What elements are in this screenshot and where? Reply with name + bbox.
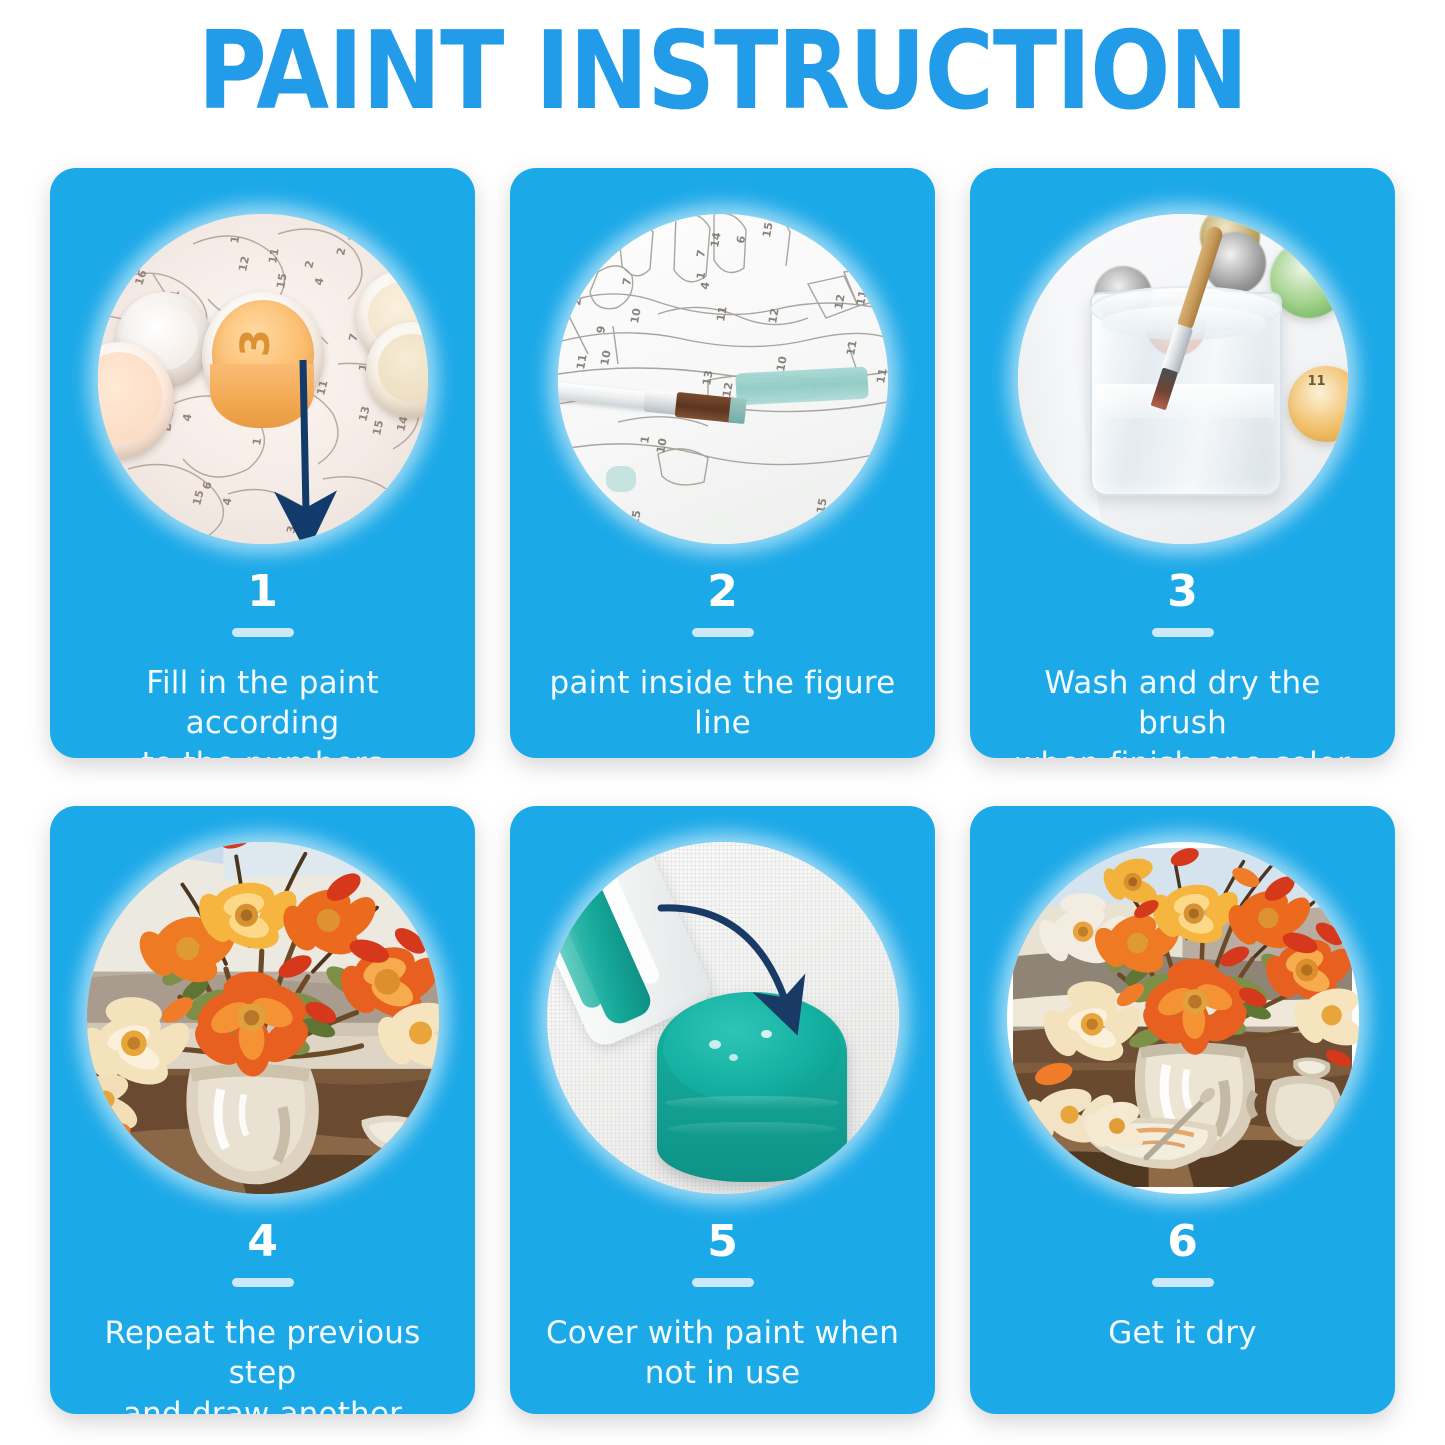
brush-rinsing-in-water-glass-photo: 11 bbox=[1018, 214, 1348, 544]
svg-text:1: 1 bbox=[250, 437, 264, 447]
brush-painting-inside-line-photo: 7 14 1 4 6 15 2 7 9 10 10 bbox=[558, 214, 888, 544]
svg-text:11: 11 bbox=[844, 339, 859, 356]
caption-line-1: Fill in the paint according bbox=[146, 665, 379, 741]
svg-text:13: 13 bbox=[700, 369, 715, 386]
page-title: PAINT INSTRUCTION bbox=[22, 12, 1424, 133]
step-card-4[interactable]: 4 Repeat the previous step and draw anot… bbox=[50, 806, 475, 1414]
step-rule bbox=[692, 1278, 754, 1287]
brush-ferrule bbox=[1161, 323, 1193, 374]
down-arrow-icon bbox=[268, 354, 348, 544]
svg-text:13: 13 bbox=[356, 405, 372, 423]
caption-line-1: Get it dry bbox=[1108, 1315, 1257, 1351]
svg-text:11: 11 bbox=[854, 289, 869, 306]
svg-text:10: 10 bbox=[654, 437, 670, 455]
svg-text:1: 1 bbox=[638, 435, 652, 445]
step-caption: Get it dry bbox=[1003, 1313, 1363, 1353]
svg-text:4: 4 bbox=[180, 412, 194, 423]
svg-text:10: 10 bbox=[628, 307, 644, 325]
step-image-2: 7 14 1 4 6 15 2 7 9 10 10 bbox=[558, 214, 888, 544]
step-card-5[interactable]: 5 Cover with paint when not in use bbox=[510, 806, 935, 1414]
step-card-1[interactable]: 16 11 1 12 11 2 2 4 15 7 1 bbox=[50, 168, 475, 758]
step-rule bbox=[232, 628, 294, 637]
step-number: 2 bbox=[510, 570, 935, 614]
step-card-3[interactable]: 11 3 bbox=[970, 168, 1395, 758]
svg-text:15: 15 bbox=[370, 419, 386, 437]
step-image-5 bbox=[547, 842, 899, 1194]
svg-text:2: 2 bbox=[334, 246, 348, 256]
step-card-6[interactable]: 6 Get it dry bbox=[970, 806, 1395, 1414]
svg-text:11: 11 bbox=[266, 247, 281, 264]
step-number: 6 bbox=[970, 1220, 1395, 1264]
step-image-3: 11 bbox=[1018, 214, 1348, 544]
finished-floral-painting-photo bbox=[1007, 842, 1359, 1194]
step-card-2[interactable]: 7 14 1 4 6 15 2 7 9 10 10 bbox=[510, 168, 935, 758]
svg-text:15: 15 bbox=[190, 489, 206, 507]
paint-pot-11-label: 11 bbox=[1308, 374, 1326, 389]
step-image-4 bbox=[87, 842, 439, 1194]
svg-text:6: 6 bbox=[200, 480, 214, 491]
step-rule bbox=[232, 1278, 294, 1287]
step-number: 5 bbox=[510, 1220, 935, 1264]
pot-thread-2 bbox=[667, 1122, 837, 1136]
step-image-6 bbox=[1007, 842, 1359, 1194]
svg-text:12: 12 bbox=[832, 293, 847, 310]
teal-paint-pot-with-lid-photo bbox=[547, 842, 899, 1194]
svg-text:12: 12 bbox=[236, 255, 252, 273]
paint-pots-on-numbered-canvas-photo: 16 11 1 12 11 2 2 4 15 7 1 bbox=[98, 214, 428, 544]
step-caption: Wash and dry the brush when finish one c… bbox=[1003, 663, 1363, 758]
step-image-1: 16 11 1 12 11 2 2 4 15 7 1 bbox=[98, 214, 428, 544]
step-number: 3 bbox=[970, 570, 1395, 614]
svg-text:11: 11 bbox=[574, 353, 589, 370]
svg-text:14: 14 bbox=[708, 231, 724, 249]
svg-text:11: 11 bbox=[874, 367, 888, 384]
paint-instruction-infographic: PAINT INSTRUCTION bbox=[0, 0, 1445, 1445]
brush-bristles bbox=[1150, 367, 1178, 410]
svg-text:4: 4 bbox=[698, 280, 712, 290]
svg-text:4: 4 bbox=[220, 496, 234, 507]
caption-line-1: Wash and dry the brush bbox=[1044, 665, 1320, 741]
brush-handle bbox=[558, 381, 657, 410]
svg-text:12: 12 bbox=[766, 307, 781, 324]
svg-text:15: 15 bbox=[628, 509, 643, 526]
svg-text:16: 16 bbox=[132, 268, 149, 287]
svg-text:15: 15 bbox=[274, 272, 289, 289]
step-caption: Cover with paint when not in use bbox=[543, 1313, 903, 1394]
svg-text:9: 9 bbox=[594, 325, 608, 335]
caption-line-2: when finish one color bbox=[1015, 746, 1350, 758]
caption-line-2: to the numbers bbox=[142, 746, 384, 758]
brush-bristle-tip bbox=[728, 398, 747, 425]
svg-text:15: 15 bbox=[760, 221, 775, 238]
svg-text:4: 4 bbox=[312, 276, 326, 287]
partially-painted-floral-canvas-photo bbox=[87, 842, 439, 1194]
step-caption: Fill in the paint according to the numbe… bbox=[83, 663, 443, 758]
caption-line-2: not in use bbox=[645, 1355, 801, 1391]
svg-text:10: 10 bbox=[598, 349, 614, 367]
steps-grid: 16 11 1 12 11 2 2 4 15 7 1 bbox=[50, 168, 1395, 1414]
caption-line-1: Repeat the previous step bbox=[104, 1315, 420, 1391]
caption-line-1: Cover with paint when bbox=[546, 1315, 899, 1351]
paint-bubble-b bbox=[729, 1054, 738, 1061]
caption-line-2: and draw another color bbox=[123, 1396, 402, 1414]
step-caption: Repeat the previous step and draw anothe… bbox=[83, 1313, 443, 1414]
water-highlight-band bbox=[1096, 384, 1274, 418]
svg-text:15: 15 bbox=[814, 497, 829, 514]
svg-text:7: 7 bbox=[694, 249, 708, 259]
step-rule bbox=[692, 628, 754, 637]
svg-text:1: 1 bbox=[228, 235, 242, 245]
step-rule bbox=[1152, 628, 1214, 637]
steps-row-top: 16 11 1 12 11 2 2 4 15 7 1 bbox=[50, 168, 1395, 758]
svg-text:11: 11 bbox=[714, 305, 729, 322]
caption-line-1: paint inside the figure line bbox=[550, 665, 896, 741]
teal-paint-speck bbox=[606, 466, 636, 492]
step-number: 4 bbox=[50, 1220, 475, 1264]
steps-row-bottom: 4 Repeat the previous step and draw anot… bbox=[50, 806, 1395, 1414]
svg-text:2: 2 bbox=[302, 259, 316, 270]
pot-thread-1 bbox=[665, 1096, 839, 1110]
step-number: 1 bbox=[50, 570, 475, 614]
curved-arrow-icon bbox=[655, 896, 855, 1046]
step-caption: paint inside the figure line bbox=[543, 663, 903, 744]
step-rule bbox=[1152, 1278, 1214, 1287]
